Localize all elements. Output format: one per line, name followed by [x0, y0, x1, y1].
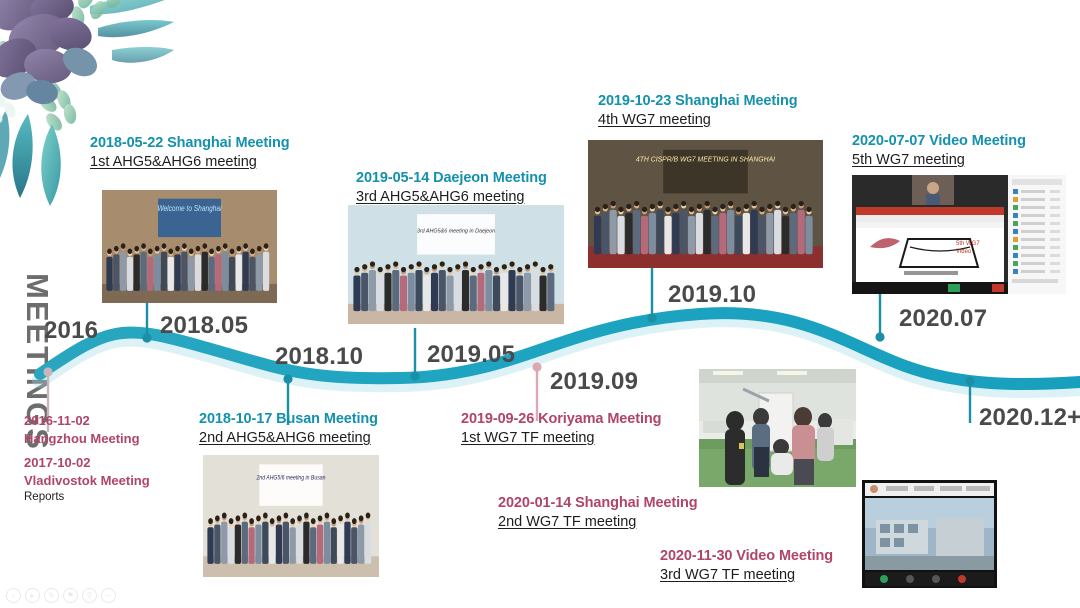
timeline-infographic: MEETINGS 20162018.052018.102019.052019.0…	[0, 0, 1080, 608]
edit-icon[interactable]: ✎	[44, 588, 59, 603]
timeline-node-dot[interactable]	[283, 374, 292, 383]
event-photo: 4TH CISPR/B WG7 MEETING IN SHANGHAI	[588, 140, 823, 268]
timeline-node-dot[interactable]	[532, 362, 541, 371]
year-label: 2019.10	[668, 281, 756, 309]
event-subtitle: 3rd AHG5&AHG6 meeting	[356, 188, 547, 207]
year-label: 2018.05	[160, 312, 248, 340]
event-subtitle: 5th WG7 meeting	[852, 151, 1026, 170]
event-title: 2019-10-23 Shanghai Meeting	[598, 92, 798, 111]
report-line: Hangzhou Meeting	[24, 430, 150, 448]
year-label: 2018.10	[275, 343, 363, 371]
event-label-shanghai-2019: 2019-10-23 Shanghai Meeting4th WG7 meeti…	[598, 92, 798, 130]
timeline-node-dot[interactable]	[965, 376, 974, 385]
event-subtitle: 4th WG7 meeting	[598, 111, 798, 130]
report-line: Vladivostok Meeting	[24, 472, 150, 490]
event-subtitle: 1st WG7 TF meeting	[461, 429, 661, 448]
report-line: Reports	[24, 490, 150, 506]
year-label: 2019.05	[427, 341, 515, 369]
event-title: 2020-07-07 Video Meeting	[852, 132, 1026, 151]
event-label-shanghai-2020-01: 2020-01-14 Shanghai Meeting2nd WG7 TF me…	[498, 494, 698, 532]
reports-block: 2016-11-02Hangzhou Meeting2017-10-02Vlad…	[24, 412, 150, 506]
event-title: 2020-01-14 Shanghai Meeting	[498, 494, 698, 513]
event-photo	[862, 480, 997, 588]
year-label: 2019.09	[550, 368, 638, 396]
event-photo: 3rd AHG5&6 meeting in Daejeon	[348, 205, 564, 324]
search-icon[interactable]: ⚲	[82, 588, 97, 603]
svg-text:4TH CISPR/B WG7 MEETING IN SHA: 4TH CISPR/B WG7 MEETING IN SHANGHAI	[636, 157, 775, 164]
svg-text:Video: Video	[956, 249, 972, 255]
svg-text:3rd AHG5&6 meeting in Daejeon: 3rd AHG5&6 meeting in Daejeon	[417, 228, 495, 234]
chevron-left-icon[interactable]: ‹	[6, 588, 21, 603]
timeline-node-dot[interactable]	[142, 333, 151, 342]
timeline-node-dot[interactable]	[875, 332, 884, 341]
event-subtitle: 1st AHG5&AHG6 meeting	[90, 153, 290, 172]
event-label-video-2020-07: 2020-07-07 Video Meeting5th WG7 meeting	[852, 132, 1026, 170]
event-title: 2019-09-26 Koriyama Meeting	[461, 410, 661, 429]
timeline-node-dot[interactable]	[647, 313, 656, 322]
event-title: 2019-05-14 Daejeon Meeting	[356, 169, 547, 188]
svg-text:Welcome to Shanghai: Welcome to Shanghai	[157, 203, 221, 213]
report-line: 2017-10-02	[24, 454, 150, 472]
report-line: 2016-11-02	[24, 412, 150, 430]
year-label: 2020.12+	[979, 404, 1080, 432]
page-title-vertical: MEETINGS	[19, 273, 55, 423]
event-photo: Welcome to Shanghai	[102, 190, 277, 303]
flag-icon[interactable]: ⚑	[63, 588, 78, 603]
year-label: 2020.07	[899, 305, 987, 333]
event-label-koriyama-2019: 2019-09-26 Koriyama Meeting1st WG7 TF me…	[461, 410, 661, 448]
year-label: 2016	[44, 317, 98, 345]
floral-decoration	[0, 0, 174, 207]
play-icon[interactable]: ▸	[25, 588, 40, 603]
event-photo: 5th WG7 Video	[852, 175, 1066, 294]
event-label-busan-2018: 2018-10-17 Busan Meeting2nd AHG5&AHG6 me…	[199, 410, 378, 448]
event-title: 2020-11-30 Video Meeting	[660, 547, 833, 566]
event-label-shanghai-2018: 2018-05-22 Shanghai Meeting1st AHG5&AHG6…	[90, 134, 290, 172]
event-title: 2018-05-22 Shanghai Meeting	[90, 134, 290, 153]
event-label-video-2020-11: 2020-11-30 Video Meeting3rd WG7 TF meeti…	[660, 547, 833, 585]
event-title: 2018-10-17 Busan Meeting	[199, 410, 378, 429]
event-subtitle: 2nd WG7 TF meeting	[498, 513, 698, 532]
minus-icon[interactable]: –	[101, 588, 116, 603]
svg-text:2nd AHG5/6 meeting in Busan: 2nd AHG5/6 meeting in Busan	[256, 475, 326, 482]
event-subtitle: 3rd WG7 TF meeting	[660, 566, 833, 585]
footer-icon-row: ‹▸✎⚑⚲–	[6, 588, 116, 603]
event-photo: 2nd AHG5/6 meeting in Busan	[203, 455, 379, 577]
event-subtitle: 2nd AHG5&AHG6 meeting	[199, 429, 378, 448]
event-photo	[699, 369, 856, 487]
timeline-node-dot[interactable]	[410, 371, 419, 380]
event-label-daejeon-2019: 2019-05-14 Daejeon Meeting3rd AHG5&AHG6 …	[356, 169, 547, 207]
svg-text:5th WG7: 5th WG7	[956, 241, 980, 247]
